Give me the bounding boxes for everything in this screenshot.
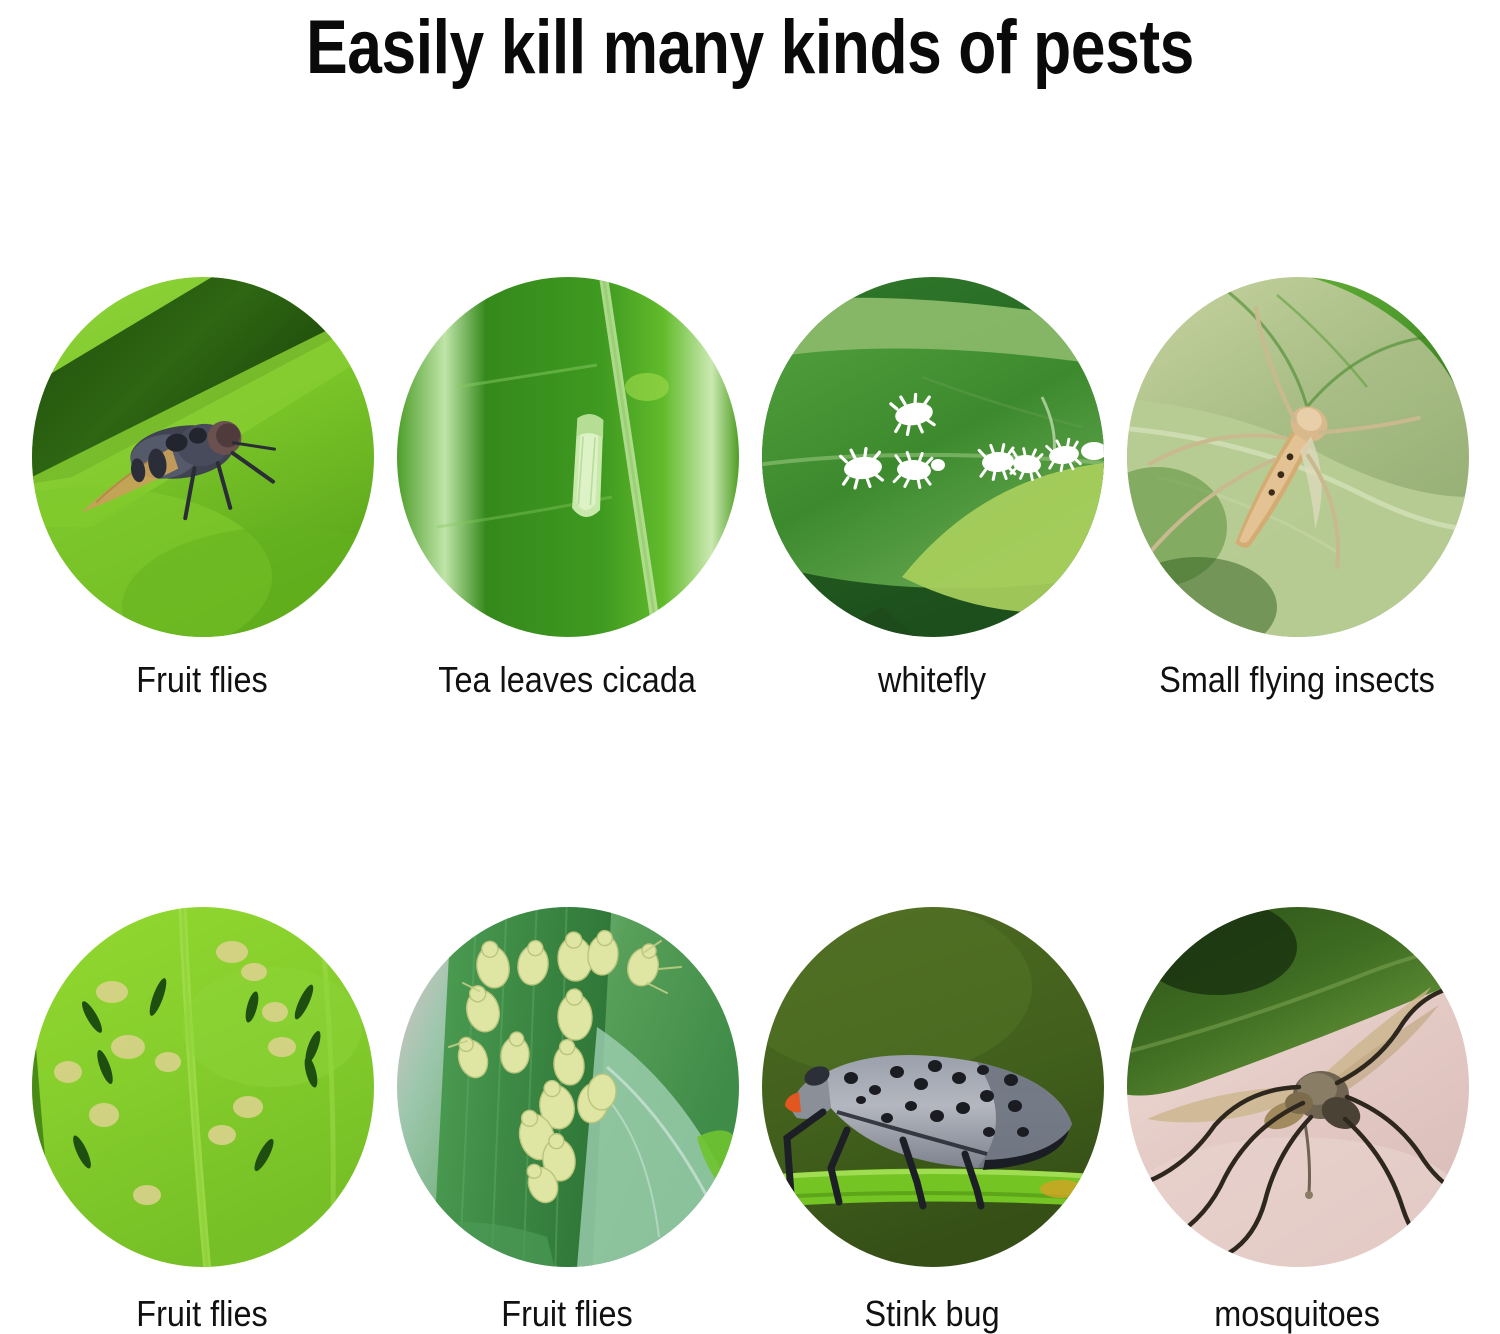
pest-cell-tea-leaves-cicada: Tea leaves cicada <box>385 277 750 699</box>
pest-row: Fruit flies <box>20 907 1480 1333</box>
aphid-cluster-photo <box>397 907 739 1267</box>
pest-cell-fruit-flies-2: Fruit flies <box>20 907 385 1333</box>
fruit-fly-on-leaf-photo <box>32 277 374 637</box>
spotted-lanternfly-photo <box>762 907 1104 1267</box>
thrips-on-leaf-photo <box>32 907 374 1267</box>
pest-label: Fruit flies <box>137 661 268 699</box>
pest-cell-fruit-flies-3: Fruit flies <box>385 907 750 1333</box>
pest-label: Fruit flies <box>502 1295 633 1333</box>
pest-label: Tea leaves cicada <box>439 661 697 699</box>
pest-cell-small-flying-insects: Small flying insects <box>1115 277 1480 699</box>
pest-grid: Fruit flies <box>20 277 1480 1333</box>
pest-label: Stink bug <box>865 1295 1000 1333</box>
pest-cell-fruit-flies-1: Fruit flies <box>20 277 385 699</box>
pest-cell-stink-bug: Stink bug <box>750 907 1115 1333</box>
pest-row: Fruit flies <box>20 277 1480 699</box>
whitefly-colony-photo <box>762 277 1104 637</box>
pest-label: Small flying insects <box>1160 661 1435 699</box>
pest-cell-whitefly: whitefly <box>750 277 1115 699</box>
pest-label: whitefly <box>878 661 986 699</box>
small-flying-insect-photo <box>1127 277 1469 637</box>
mosquito-biting-skin-photo <box>1127 907 1469 1267</box>
pest-label: mosquitoes <box>1215 1295 1381 1333</box>
tea-leaf-cicada-photo <box>397 277 739 637</box>
page-title: Easily kill many kinds of pests <box>135 0 1365 96</box>
pest-cell-mosquitoes: mosquitoes <box>1115 907 1480 1333</box>
pest-label: Fruit flies <box>137 1295 268 1333</box>
